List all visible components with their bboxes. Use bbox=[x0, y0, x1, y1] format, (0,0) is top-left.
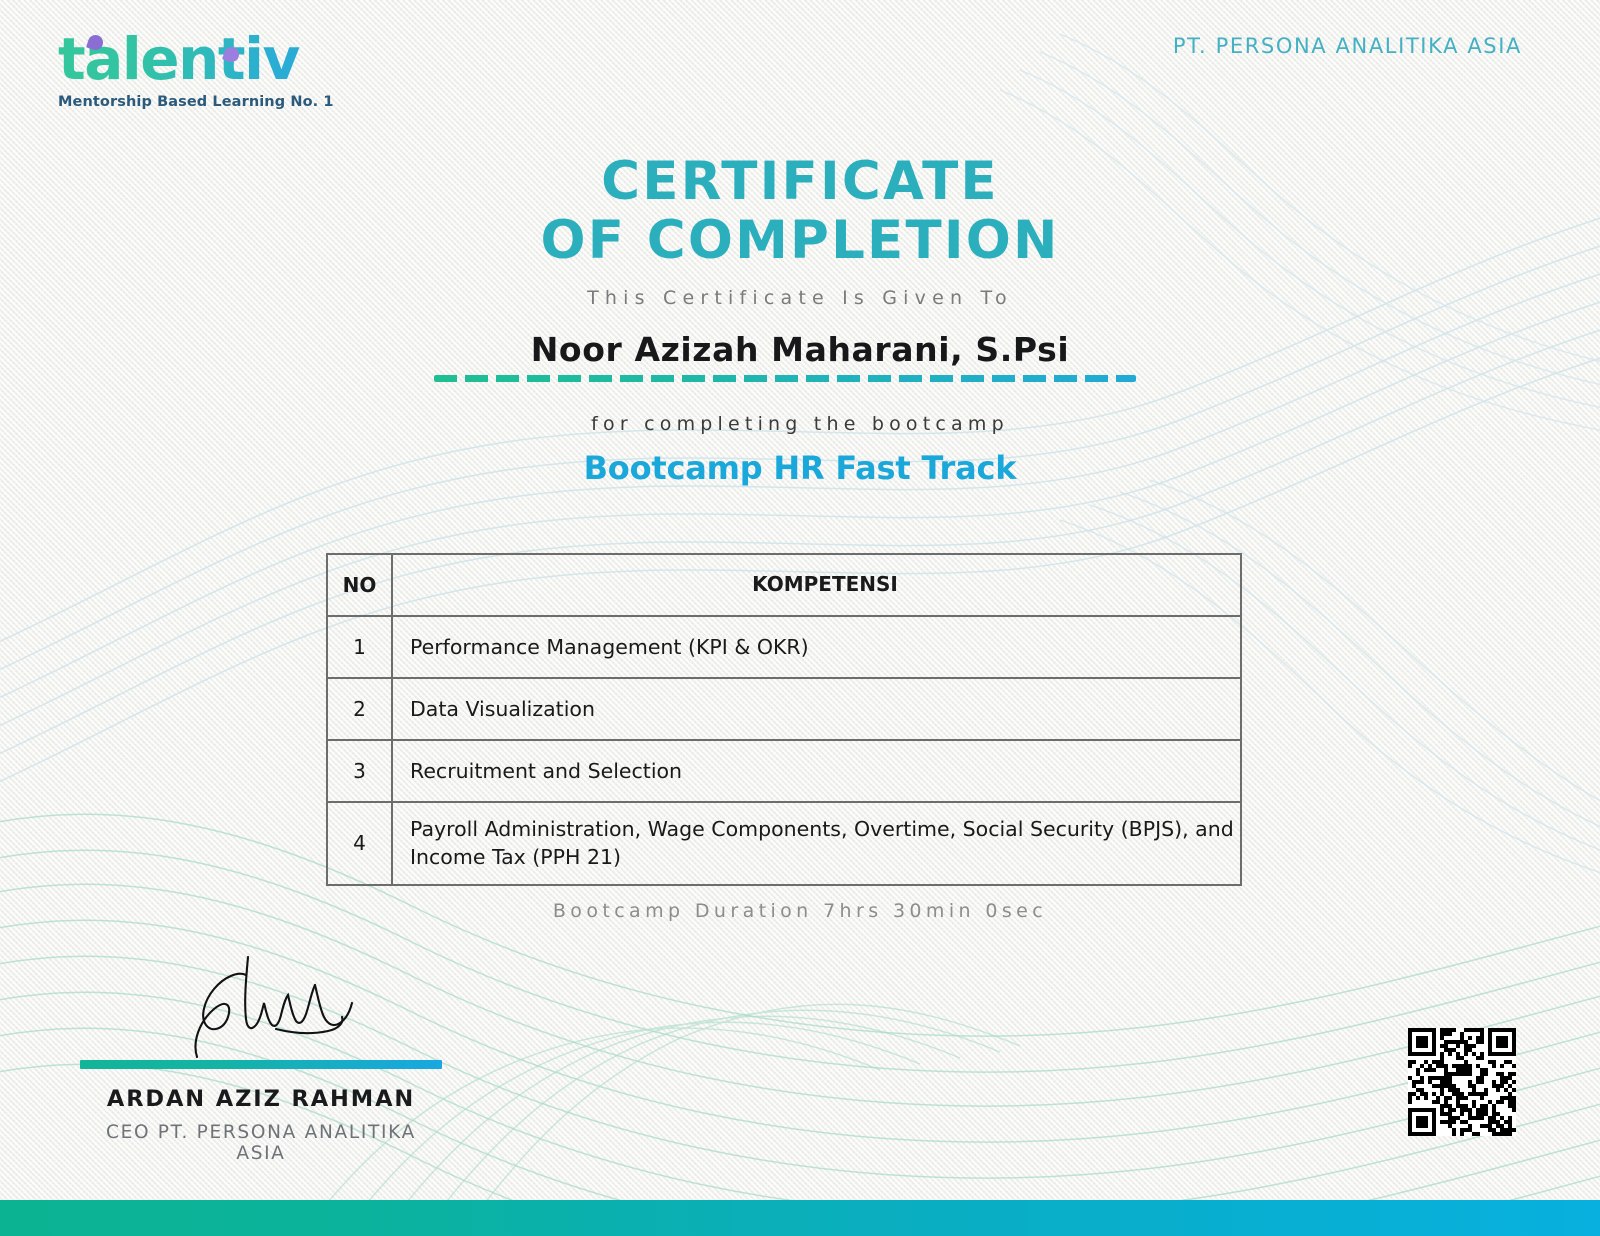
table-header-row: NO KOMPETENSI bbox=[327, 554, 1241, 616]
given-to-label: This Certificate Is Given To bbox=[0, 287, 1600, 309]
signer-name: ARDAN AZIZ RAHMAN bbox=[80, 1086, 442, 1112]
title-line-2: OF COMPLETION bbox=[0, 211, 1600, 270]
table-row: 1 Performance Management (KPI & OKR) bbox=[327, 616, 1241, 678]
row-number: 4 bbox=[327, 802, 392, 885]
signer-title: CEO PT. PERSONA ANALITIKA ASIA bbox=[80, 1122, 442, 1164]
row-number: 2 bbox=[327, 678, 392, 740]
competency-table: NO KOMPETENSI 1 Performance Management (… bbox=[326, 553, 1242, 886]
title-line-1: CERTIFICATE bbox=[0, 152, 1600, 211]
row-competency: Data Visualization bbox=[392, 678, 1241, 740]
table-header-kompetensi: KOMPETENSI bbox=[392, 554, 1241, 616]
signature-block: ARDAN AZIZ RAHMAN CEO PT. PERSONA ANALIT… bbox=[80, 945, 442, 1164]
signature-rule bbox=[80, 1060, 442, 1069]
for-completing-label: for completing the bootcamp bbox=[0, 413, 1600, 435]
program-name: Bootcamp HR Fast Track bbox=[0, 449, 1600, 487]
table-header-no: NO bbox=[327, 554, 392, 616]
signature-icon bbox=[80, 945, 442, 1060]
row-number: 3 bbox=[327, 740, 392, 802]
logo-tagline: Mentorship Based Learning No. 1 bbox=[58, 94, 348, 110]
dashed-divider bbox=[434, 375, 1136, 382]
certificate-page: talentiv Mentorship Based Learning No. 1… bbox=[0, 0, 1600, 1236]
company-name: PT. PERSONA ANALITIKA ASIA bbox=[1173, 34, 1522, 58]
row-competency: Payroll Administration, Wage Components,… bbox=[392, 802, 1241, 885]
table-row: 2 Data Visualization bbox=[327, 678, 1241, 740]
duration-text: Bootcamp Duration 7hrs 30min 0sec bbox=[0, 900, 1600, 922]
row-competency: Performance Management (KPI & OKR) bbox=[392, 616, 1241, 678]
brand-logo: talentiv Mentorship Based Learning No. 1 bbox=[58, 30, 348, 110]
row-number: 1 bbox=[327, 616, 392, 678]
bottom-gradient-bar bbox=[0, 1200, 1600, 1236]
table-row: 3 Recruitment and Selection bbox=[327, 740, 1241, 802]
qr-code-icon[interactable] bbox=[1408, 1028, 1516, 1136]
recipient-name: Noor Azizah Maharani, S.Psi bbox=[0, 330, 1600, 369]
row-competency: Recruitment and Selection bbox=[392, 740, 1241, 802]
certificate-title: CERTIFICATE OF COMPLETION bbox=[0, 152, 1600, 271]
table-row: 4 Payroll Administration, Wage Component… bbox=[327, 802, 1241, 885]
